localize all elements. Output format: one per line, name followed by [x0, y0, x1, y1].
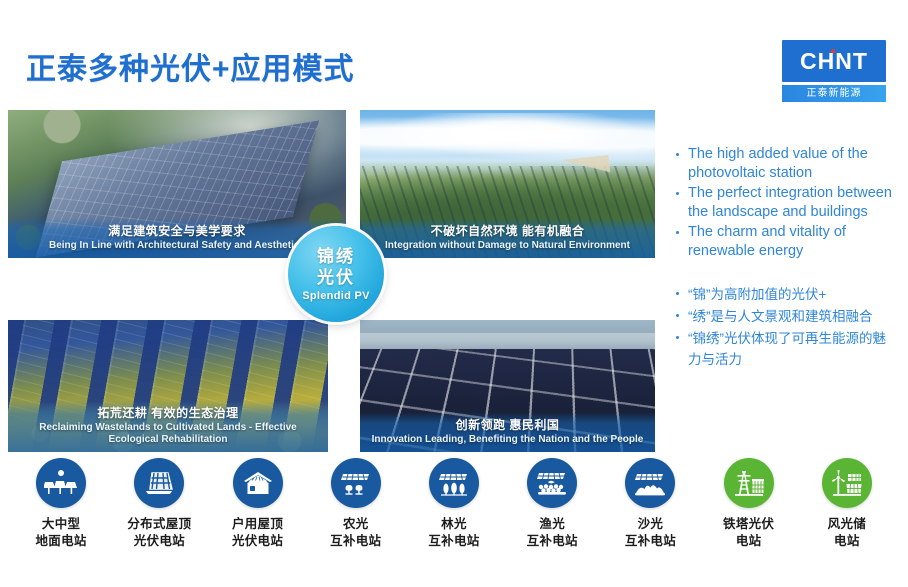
bullet-item: The high added value of the photovoltaic…	[672, 145, 894, 183]
ground-solar-array-icon	[36, 458, 86, 508]
photo-caption: 创新领跑 惠民利国 Innovation Leading, Benefiting…	[360, 412, 655, 452]
icon-cell-ground-station[interactable]: 大中型 地面电站	[12, 458, 110, 550]
bullet-item: The perfect integration between the land…	[672, 184, 894, 222]
transmission-tower-pv-icon	[724, 458, 774, 508]
badge-english: Splendid PV	[302, 290, 369, 302]
caption-english: Being In Line with Architectural Safety …	[14, 240, 340, 252]
slide-canvas: 正泰多种光伏+应用模式 CHNT 正泰新能源 满足建筑安全与美学要求 Being…	[0, 0, 908, 587]
badge-line-2: 光伏	[317, 267, 355, 288]
caption-chinese: 满足建筑安全与美学要求	[14, 222, 340, 239]
photo-caption: 拓荒还耕 有效的生态治理 Reclaiming Wastelands to Cu…	[8, 400, 328, 452]
photo-rooftop-industrial: 满足建筑安全与美学要求 Being In Line with Architect…	[8, 110, 346, 258]
bullet-list-chinese: “锦”为高附加值的光伏+ “绣”是与人文景观和建筑相融合 “锦绣”光伏体现了可再…	[672, 284, 898, 371]
icon-cell-agriculture-pv[interactable]: 农光 互补电站	[307, 458, 405, 550]
icon-cell-desert-pv[interactable]: 沙光 互补电站	[601, 458, 699, 550]
bullet-item: “锦”为高附加值的光伏+	[672, 284, 898, 305]
bullet-list-english: The high added value of the photovoltaic…	[672, 145, 894, 262]
icon-cell-transmission-tower-pv[interactable]: 铁塔光伏 电站	[700, 458, 798, 550]
logo-subtitle: 正泰新能源	[782, 85, 886, 102]
logo-box: CHNT	[782, 40, 886, 82]
icon-label: 风光储 电站	[828, 516, 866, 550]
chint-logo: CHNT 正泰新能源	[782, 40, 886, 102]
caption-chinese: 拓荒还耕 有效的生态治理	[14, 404, 322, 421]
photo-reclaimed-land: 拓荒还耕 有效的生态治理 Reclaiming Wastelands to Cu…	[8, 320, 328, 452]
icon-cell-distributed-rooftop[interactable]: 分布式屋顶 光伏电站	[110, 458, 208, 550]
caption-english: Innovation Leading, Benefiting the Natio…	[366, 434, 649, 446]
icon-cell-fishery-pv[interactable]: 渔光 互补电站	[503, 458, 601, 550]
icon-cell-residential-rooftop[interactable]: 户用屋顶 光伏电站	[208, 458, 306, 550]
photo-cloud-layer	[360, 113, 655, 160]
bullet-item: “绣”是与人文景观和建筑相融合	[672, 306, 898, 327]
photo-mountain-ridge: 不破坏自然环境 能有机融合 Integration without Damage…	[360, 110, 655, 258]
caption-chinese: 创新领跑 惠民利国	[366, 416, 649, 433]
icon-label: 沙光 互补电站	[625, 516, 676, 550]
icon-label: 大中型 地面电站	[36, 516, 87, 550]
center-badge-splendid-pv: 锦绣 光伏 Splendid PV	[288, 226, 384, 322]
icon-label: 渔光 互补电站	[527, 516, 578, 550]
logo-wordmark: CHNT	[800, 48, 868, 75]
wind-solar-storage-icon	[822, 458, 872, 508]
page-title: 正泰多种光伏+应用模式	[26, 44, 355, 88]
icon-label: 分布式屋顶 光伏电站	[127, 516, 191, 550]
forestry-pv-icon	[429, 458, 479, 508]
logo-accent-dot-icon	[831, 49, 835, 53]
agriculture-pv-icon	[331, 458, 381, 508]
fishery-pv-icon	[527, 458, 577, 508]
application-mode-icon-strip: 大中型 地面电站 分布式屋顶 光伏电站	[0, 458, 908, 578]
icon-cell-wind-solar-storage[interactable]: 风光储 电站	[798, 458, 896, 550]
desert-pv-icon	[625, 458, 675, 508]
photo-caption: 不破坏自然环境 能有机融合 Integration without Damage…	[360, 218, 655, 258]
icon-label: 铁塔光伏 电站	[723, 516, 774, 550]
badge-line-1: 锦绣	[317, 246, 355, 267]
photo-floating-fishery: 创新领跑 惠民利国 Innovation Leading, Benefiting…	[360, 320, 655, 452]
distributed-rooftop-panel-icon	[134, 458, 184, 508]
icon-label: 林光 互补电站	[428, 516, 479, 550]
caption-english: Reclaiming Wastelands to Cultivated Land…	[14, 422, 322, 446]
caption-chinese: 不破坏自然环境 能有机融合	[366, 222, 649, 239]
caption-english: Integration without Damage to Natural En…	[366, 240, 649, 252]
icon-label: 农光 互补电站	[330, 516, 381, 550]
bullet-item: The charm and vitality of renewable ener…	[672, 223, 894, 261]
icon-label: 户用屋顶 光伏电站	[232, 516, 283, 550]
icon-cell-forestry-pv[interactable]: 林光 互补电站	[405, 458, 503, 550]
bullet-item: “锦绣”光伏体现了可再生能源的魅力与活力	[672, 328, 898, 370]
residential-rooftop-house-icon	[233, 458, 283, 508]
